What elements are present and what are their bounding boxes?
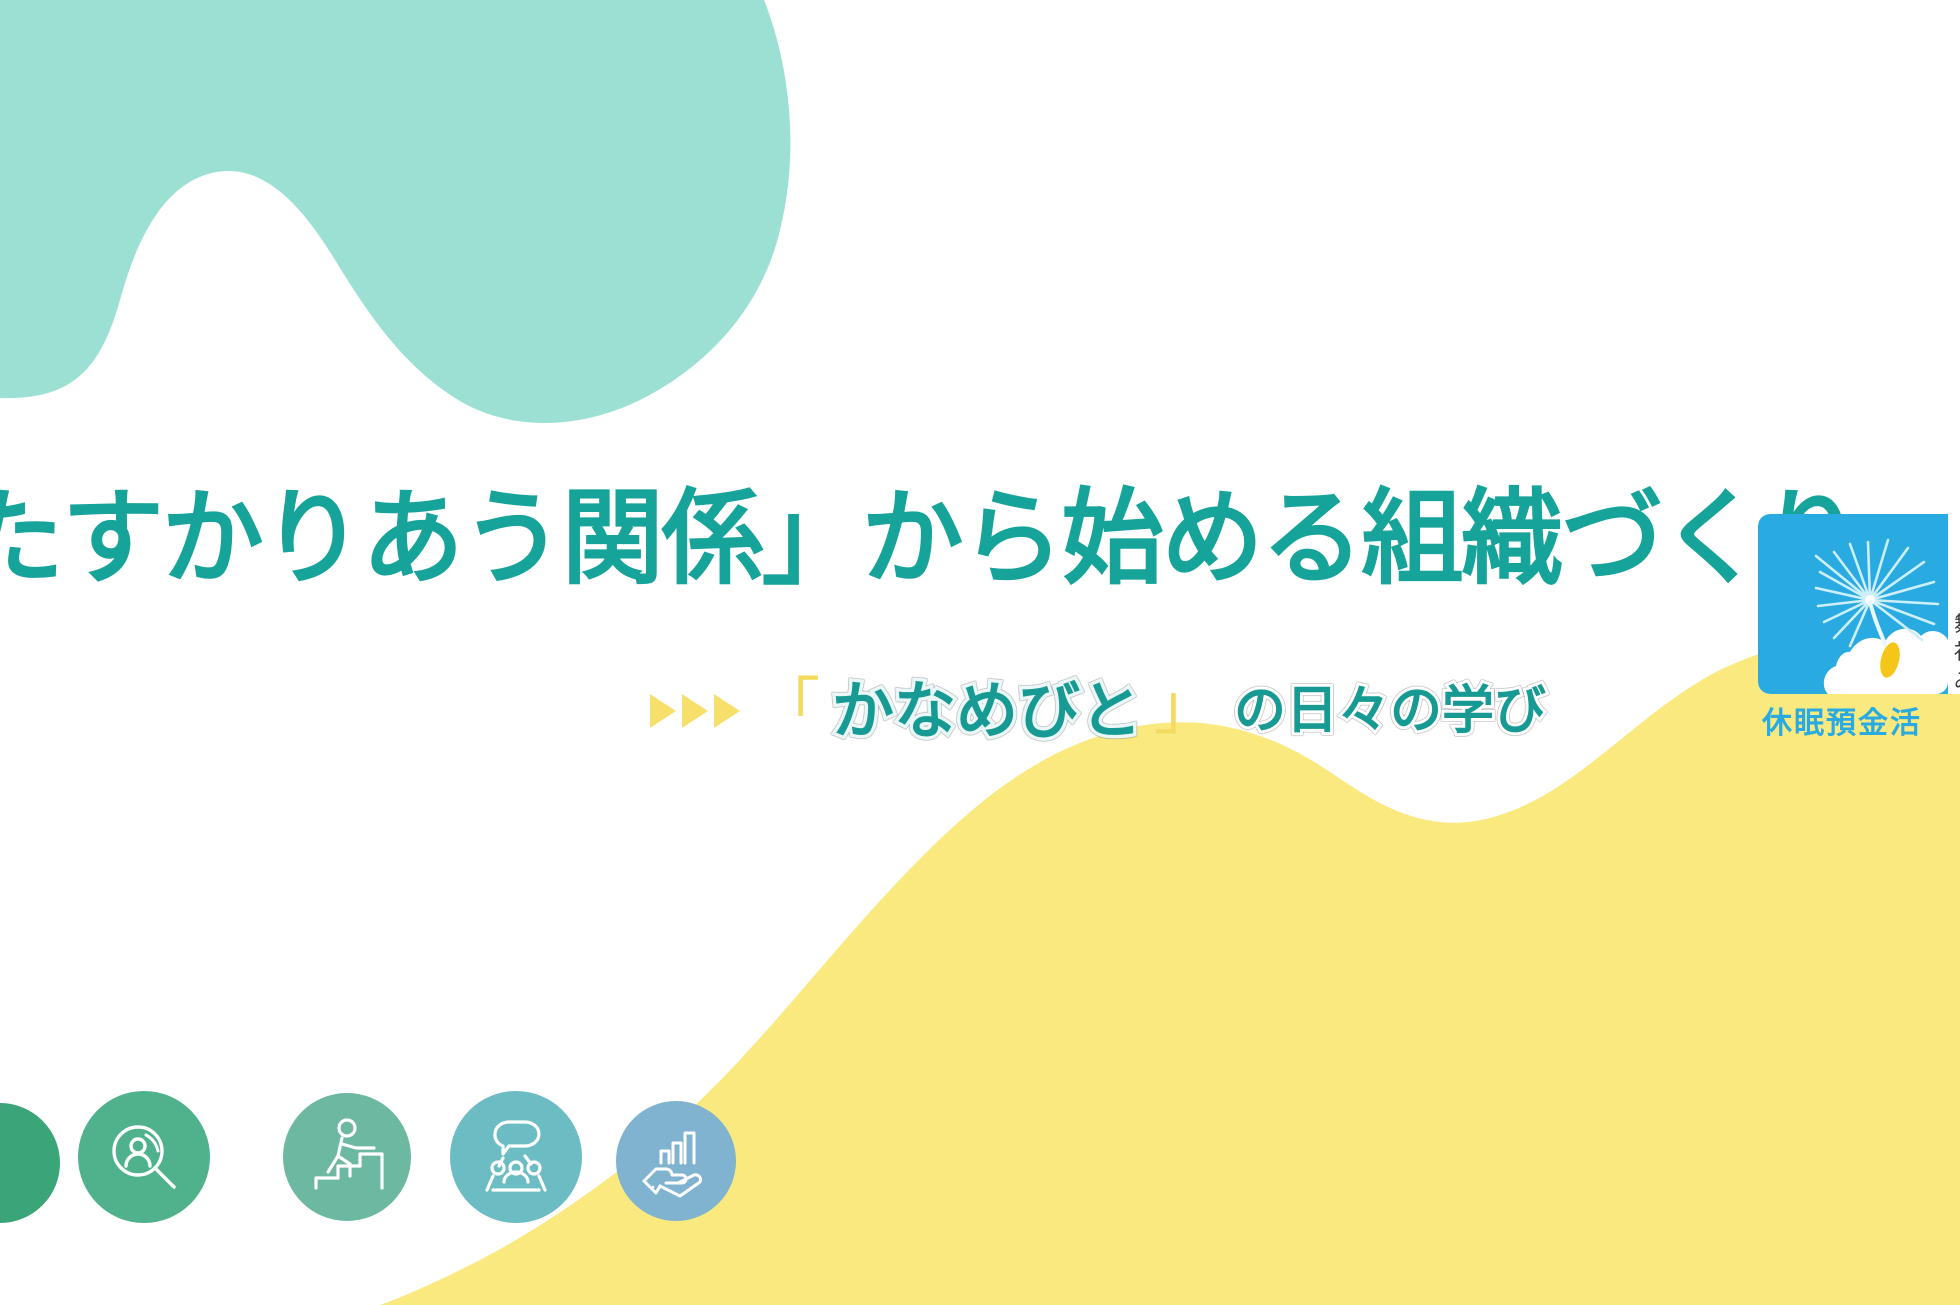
bracket-open: 「 (758, 676, 820, 738)
logo-side-line-3: み (1954, 667, 1960, 694)
triangle-right-icon (650, 694, 676, 728)
page-title: たすかりあう関係」から始める組織づくり (0, 486, 1861, 590)
icon-row (0, 1043, 840, 1203)
magnifier-person-icon (102, 1115, 186, 1199)
headline-block: たすかりあう関係」から始める組織づくり (0, 478, 1482, 598)
hand-holding-bar-chart-icon (636, 1121, 716, 1201)
people-speech-bubble-icon (473, 1114, 559, 1200)
mint-decorative-blob (0, 0, 790, 423)
subtitle-tail: の日々の学び (1234, 685, 1546, 737)
logo-card: 舞 社会 み (1758, 514, 1960, 694)
triangle-right-icon (714, 694, 740, 728)
bracket-close: 」 (1154, 676, 1216, 738)
person-climbing-stairs-icon (304, 1114, 390, 1200)
subtitle-highlight: かなめびと (832, 680, 1142, 742)
dandelion-seed-icon (1758, 514, 1960, 694)
logo-side-text: 舞 社会 み (1954, 610, 1960, 694)
dormant-deposits-logo: 舞 社会 み 休眠預金活 (1758, 514, 1960, 764)
triangle-right-icon (682, 694, 708, 728)
person-search-icon (78, 1091, 210, 1223)
impact-growth-icon (616, 1101, 736, 1221)
logo-side-line-2: 社会 (1954, 638, 1960, 666)
arrow-group (650, 694, 740, 728)
logo-side-line-1: 舞 (1954, 610, 1960, 638)
subtitle-block: 「 かなめびと 」 の日々の学び (650, 672, 1546, 750)
stairs-climb-icon (283, 1093, 411, 1221)
logo-bottom-text: 休眠預金活 (1762, 698, 1922, 742)
banner-canvas: たすかりあう関係」から始める組織づくり 「 かなめびと 」 の日々の学び (0, 0, 1960, 1305)
group-discussion-icon (450, 1091, 582, 1223)
